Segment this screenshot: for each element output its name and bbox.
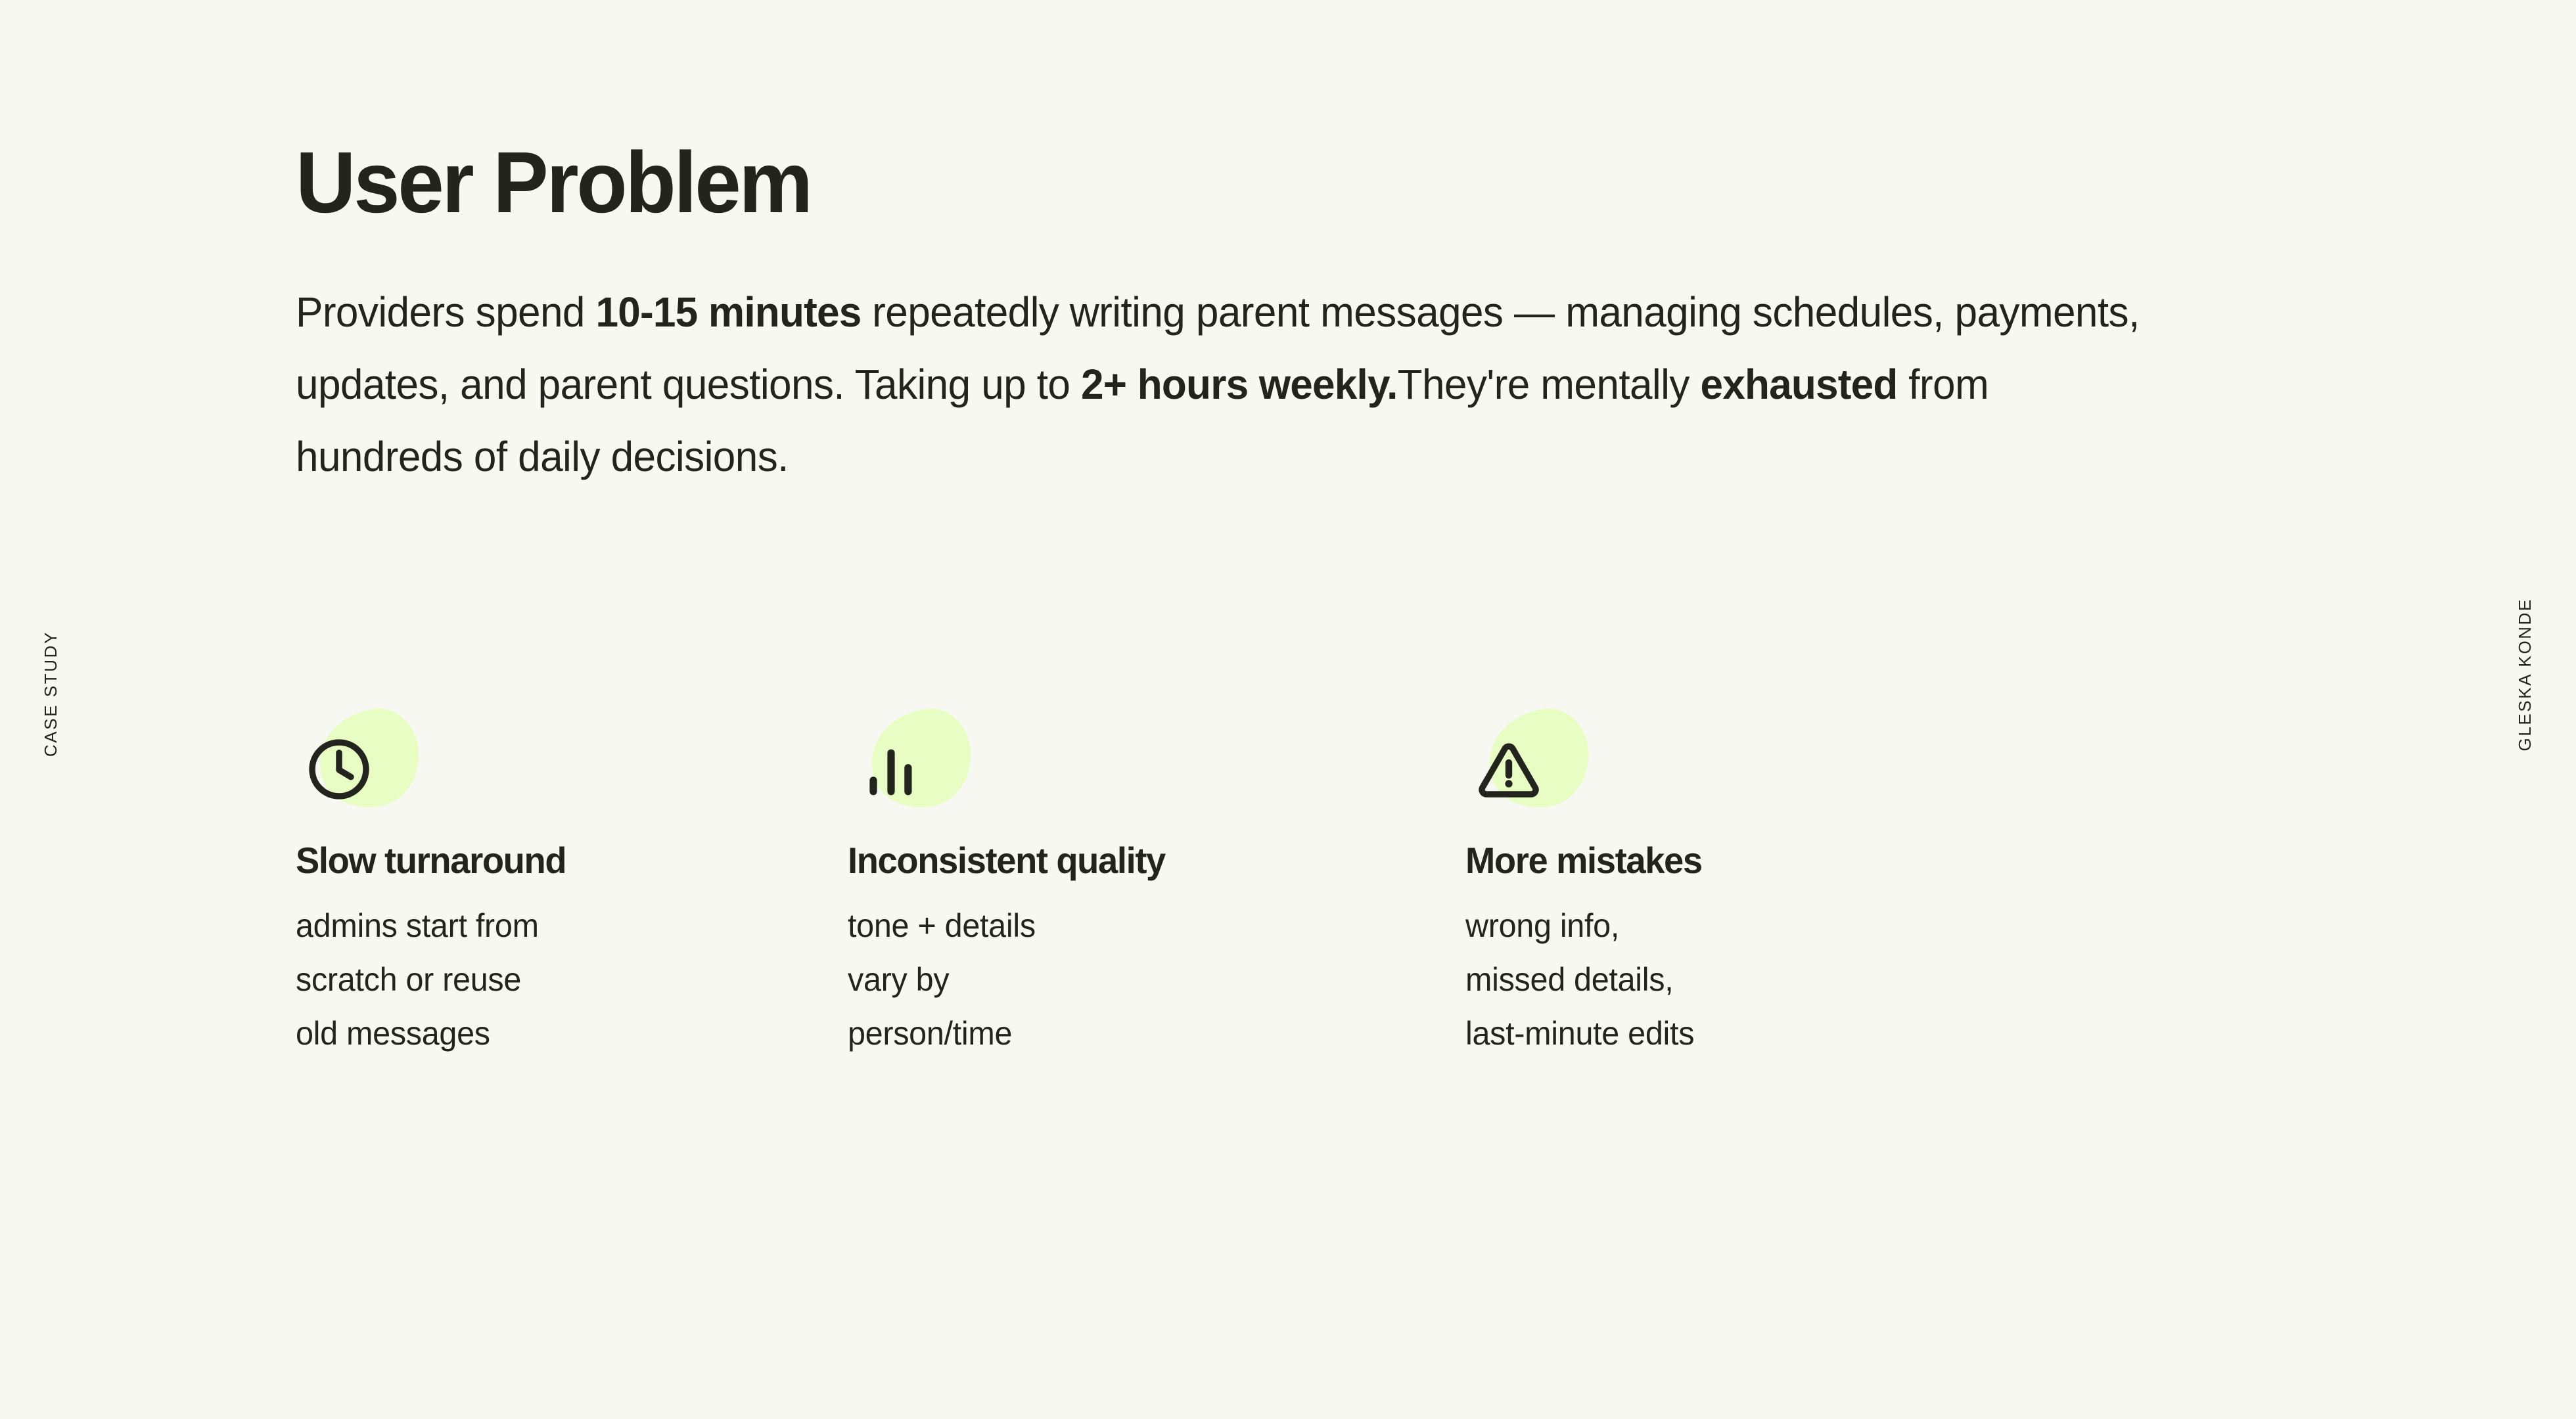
icon-container [296,706,434,838]
lede-emphasis: 2+ hours weekly. [1081,361,1398,408]
lede-emphasis: exhausted [1700,361,1897,408]
page-title: User Problem [296,139,811,226]
feature-card-body: wrong info, missed details, last-minute … [1465,899,2039,1060]
lede-text: They're mentally [1398,361,1701,408]
author-label: GLESKA KONDE [2515,598,2535,752]
case-study-label: CASE STUDY [41,631,61,757]
feature-card: Inconsistent quality tone + details vary… [848,706,1465,1060]
icon-container [848,706,986,838]
feature-card-body: admins start from scratch or reuse old m… [296,899,831,1060]
warning-triangle-icon [1473,734,1544,805]
slide-canvas: CASE STUDY GLESKA KONDE User Problem Pro… [0,0,2576,1419]
feature-card-title: Inconsistent quality [848,842,1447,880]
feature-card-title: Slow turnaround [296,842,831,880]
lede-text: Providers spend [296,288,596,336]
clock-icon [304,734,375,805]
feature-card-body: tone + details vary by person/time [848,899,1447,1060]
feature-card: Slow turnaround admins start from scratc… [296,706,848,1060]
feature-card-list: Slow turnaround admins start from scratc… [296,706,2201,1060]
icon-container [1465,706,1603,838]
feature-card-title: More mistakes [1465,842,2039,880]
lede-paragraph: Providers spend 10-15 minutes repeatedly… [296,276,2144,493]
bar-chart-icon [856,734,927,805]
feature-card: More mistakes wrong info, missed details… [1465,706,2057,1060]
lede-emphasis: 10-15 minutes [596,288,862,336]
